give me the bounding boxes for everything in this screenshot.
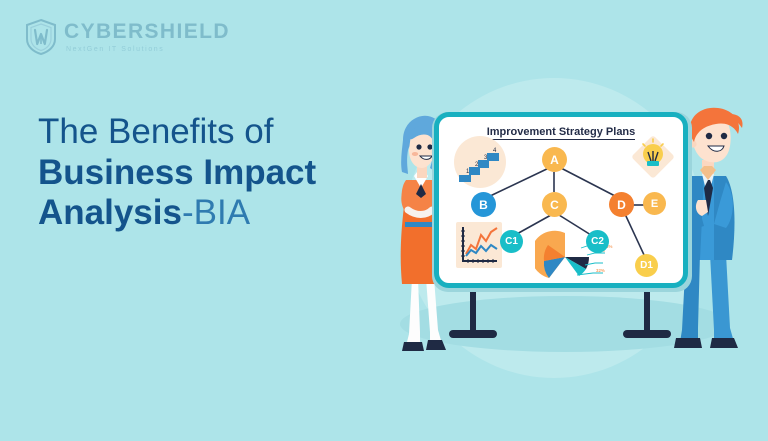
tree-node-e[interactable]: E bbox=[643, 192, 666, 215]
page-title: The Benefits of Business Impact Analysis… bbox=[38, 112, 368, 234]
brand-tagline: NextGen IT Solutions bbox=[66, 46, 230, 53]
brand-name: CYBERSHIELD bbox=[64, 21, 230, 42]
tree-node-c1[interactable]: C1 bbox=[500, 230, 523, 253]
board-leg-right bbox=[644, 288, 650, 336]
tree-node-d[interactable]: D bbox=[609, 192, 634, 217]
whiteboard: Improvement Strategy Plans 1 2 3 4 bbox=[434, 112, 688, 288]
board-foot-left bbox=[449, 330, 497, 338]
hero-banner: CYBERSHIELD NextGen IT Solutions The Ben… bbox=[0, 0, 768, 441]
board-leg-left bbox=[470, 288, 476, 336]
tree-node-c2[interactable]: C2 bbox=[586, 230, 609, 253]
tree-node-c[interactable]: C bbox=[542, 192, 567, 217]
headline-line-2: Business Impact bbox=[38, 153, 368, 194]
shield-monogram-icon bbox=[24, 18, 58, 56]
headline-line-1: The Benefits of bbox=[38, 112, 368, 153]
headline-line-3-main: Analysis bbox=[38, 193, 182, 232]
board-foot-right bbox=[623, 330, 671, 338]
tree-node-a[interactable]: A bbox=[542, 147, 567, 172]
headline-line-3: Analysis-BIA bbox=[38, 193, 368, 234]
headline-line-3-suffix: -BIA bbox=[182, 193, 250, 232]
brand-logo[interactable]: CYBERSHIELD NextGen IT Solutions bbox=[24, 18, 230, 56]
tree-node-b[interactable]: B bbox=[471, 192, 496, 217]
tree-node-d1[interactable]: D1 bbox=[635, 254, 658, 277]
